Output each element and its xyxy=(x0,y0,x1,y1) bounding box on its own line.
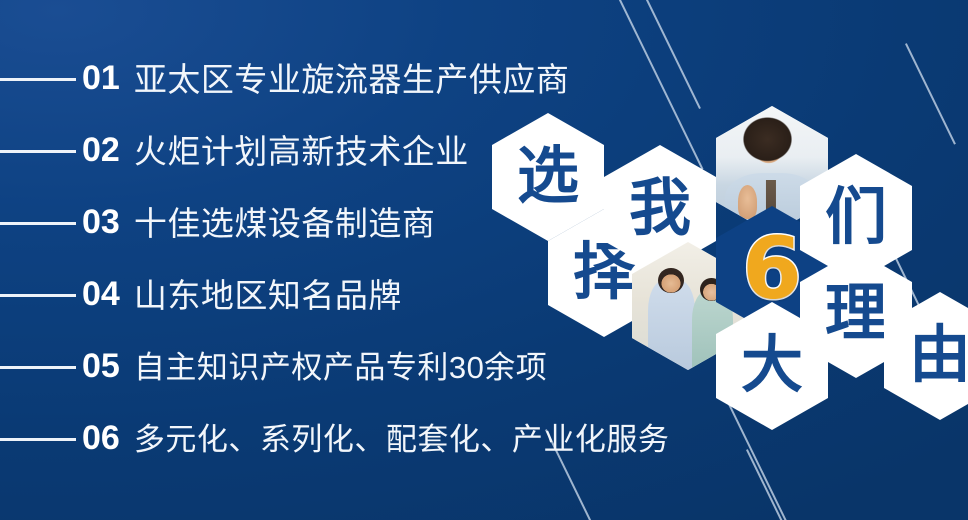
hex-glyph: 我 xyxy=(629,177,691,239)
person-one-head xyxy=(658,268,684,294)
thumbs-up-icon xyxy=(738,185,757,218)
hex-glyph: 理 xyxy=(825,282,887,344)
banner-canvas: 01 亚太区专业旋流器生产供应商 02 火炬计划高新技术企业 03 十佳选煤设备… xyxy=(0,0,968,520)
hex-glyph: 们 xyxy=(825,186,887,248)
hexagon-cluster: 选 择 我 6 xyxy=(0,0,968,520)
hex-glyph: 大 xyxy=(741,334,803,396)
hex-glyph: 选 xyxy=(517,145,579,207)
person-one-shape xyxy=(648,280,695,370)
hex-glyph: 由 xyxy=(909,324,968,386)
hex-glyph-number: 6 xyxy=(742,226,802,312)
